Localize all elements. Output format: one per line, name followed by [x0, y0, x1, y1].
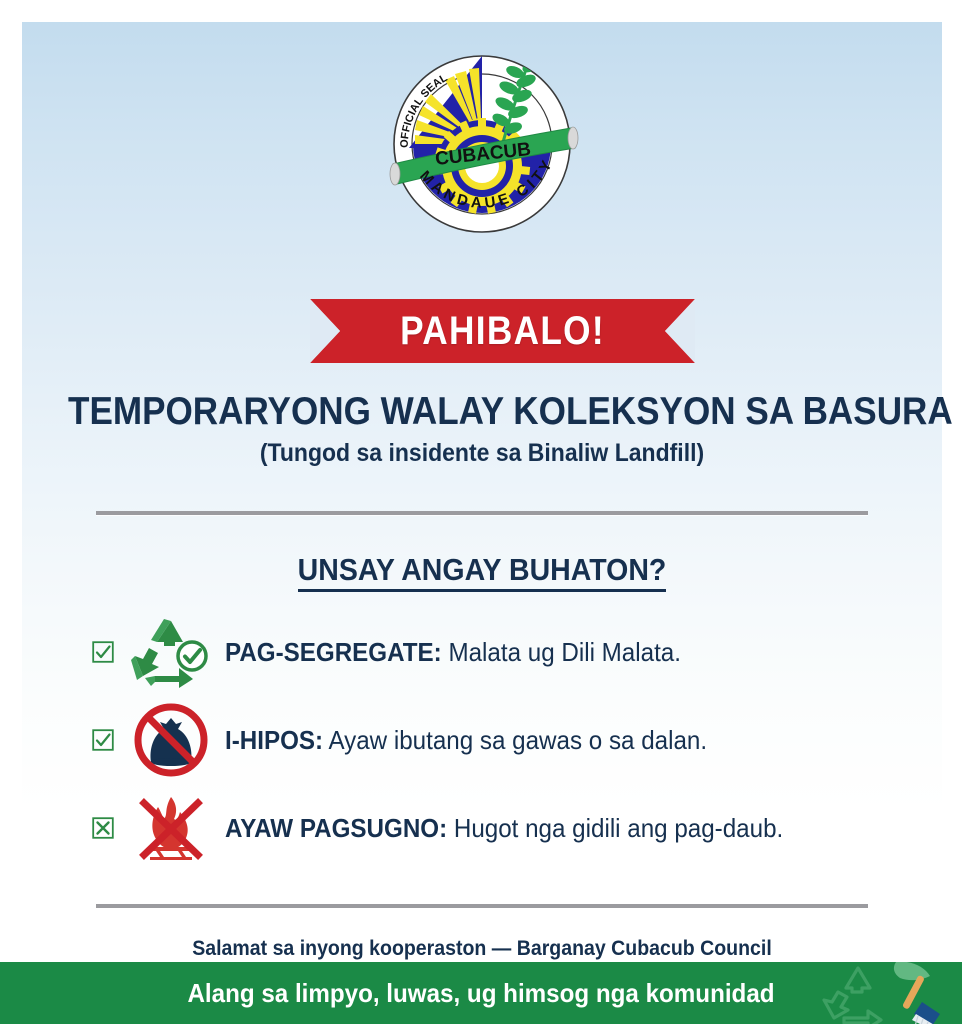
list-item-label: AYAW PAGSUGNO: [225, 813, 447, 843]
list-item: AYAW PAGSUGNO: Hugot nga gidili ang pag-… [22, 784, 942, 872]
thank-you-note: Salamat sa inyong kooperaston — Barganay… [54, 937, 910, 961]
seal-icon: CUBACUB OFFICIAL SEAL MANDAUE CITY [379, 36, 585, 252]
checkbox-cross-icon [92, 817, 114, 839]
divider-bottom [96, 904, 868, 908]
list-item: PAG-SEGREGATE: Malata ug Dili Malata. [22, 608, 942, 696]
checkbox-check-icon [92, 641, 114, 663]
pahibalo-ribbon: PAHIBALO! [310, 299, 695, 363]
list-item-label: I-HIPOS: [225, 725, 323, 755]
list-item-text: PAG-SEGREGATE: Malata ug Dili Malata. [225, 637, 681, 668]
section-title: UNSAY ANGAY BUHATON? [59, 552, 905, 588]
broom-icon [894, 962, 940, 1024]
instruction-list: PAG-SEGREGATE: Malata ug Dili Malata. [22, 608, 942, 872]
footer-icon-group [818, 962, 954, 1024]
city-seal: CUBACUB OFFICIAL SEAL MANDAUE CITY [379, 36, 585, 252]
list-item-detail: Ayaw ibutang sa gawas o sa dalan. [323, 725, 707, 755]
list-item-detail: Malata ug Dili Malata. [442, 637, 681, 667]
subheadline: (Tungod sa insidente sa Binaliw Landfill… [59, 439, 905, 468]
ribbon-label: PAHIBALO! [333, 299, 672, 363]
list-item-text: AYAW PAGSUGNO: Hugot nga gidili ang pag-… [225, 813, 783, 844]
footer-slogan: Alang sa limpyo, luwas, ug himsog nga ko… [34, 962, 929, 1024]
no-trash-bag-icon [126, 700, 216, 780]
recycle-check-icon [126, 612, 216, 692]
list-item-detail: Hugot nga gidili ang pag-daub. [447, 813, 783, 843]
poster-root: CUBACUB OFFICIAL SEAL MANDAUE CITY [0, 0, 962, 1024]
no-burning-fire-icon [126, 788, 216, 868]
list-item-text: I-HIPOS: Ayaw ibutang sa gawas o sa dala… [225, 725, 707, 756]
list-item-label: PAG-SEGREGATE: [225, 637, 442, 667]
footer-band: Alang sa limpyo, luwas, ug himsog nga ko… [0, 962, 962, 1024]
divider-top [96, 511, 868, 515]
checkbox-check-icon [92, 729, 114, 751]
recycle-outline-icon [824, 968, 881, 1024]
section-title-text: UNSAY ANGAY BUHATON? [298, 552, 667, 592]
poster-card: CUBACUB OFFICIAL SEAL MANDAUE CITY [22, 22, 942, 962]
list-item: I-HIPOS: Ayaw ibutang sa gawas o sa dala… [22, 696, 942, 784]
headline: TEMPORARYONG WALAY KOLEKSYON SA BASURA [68, 390, 896, 434]
